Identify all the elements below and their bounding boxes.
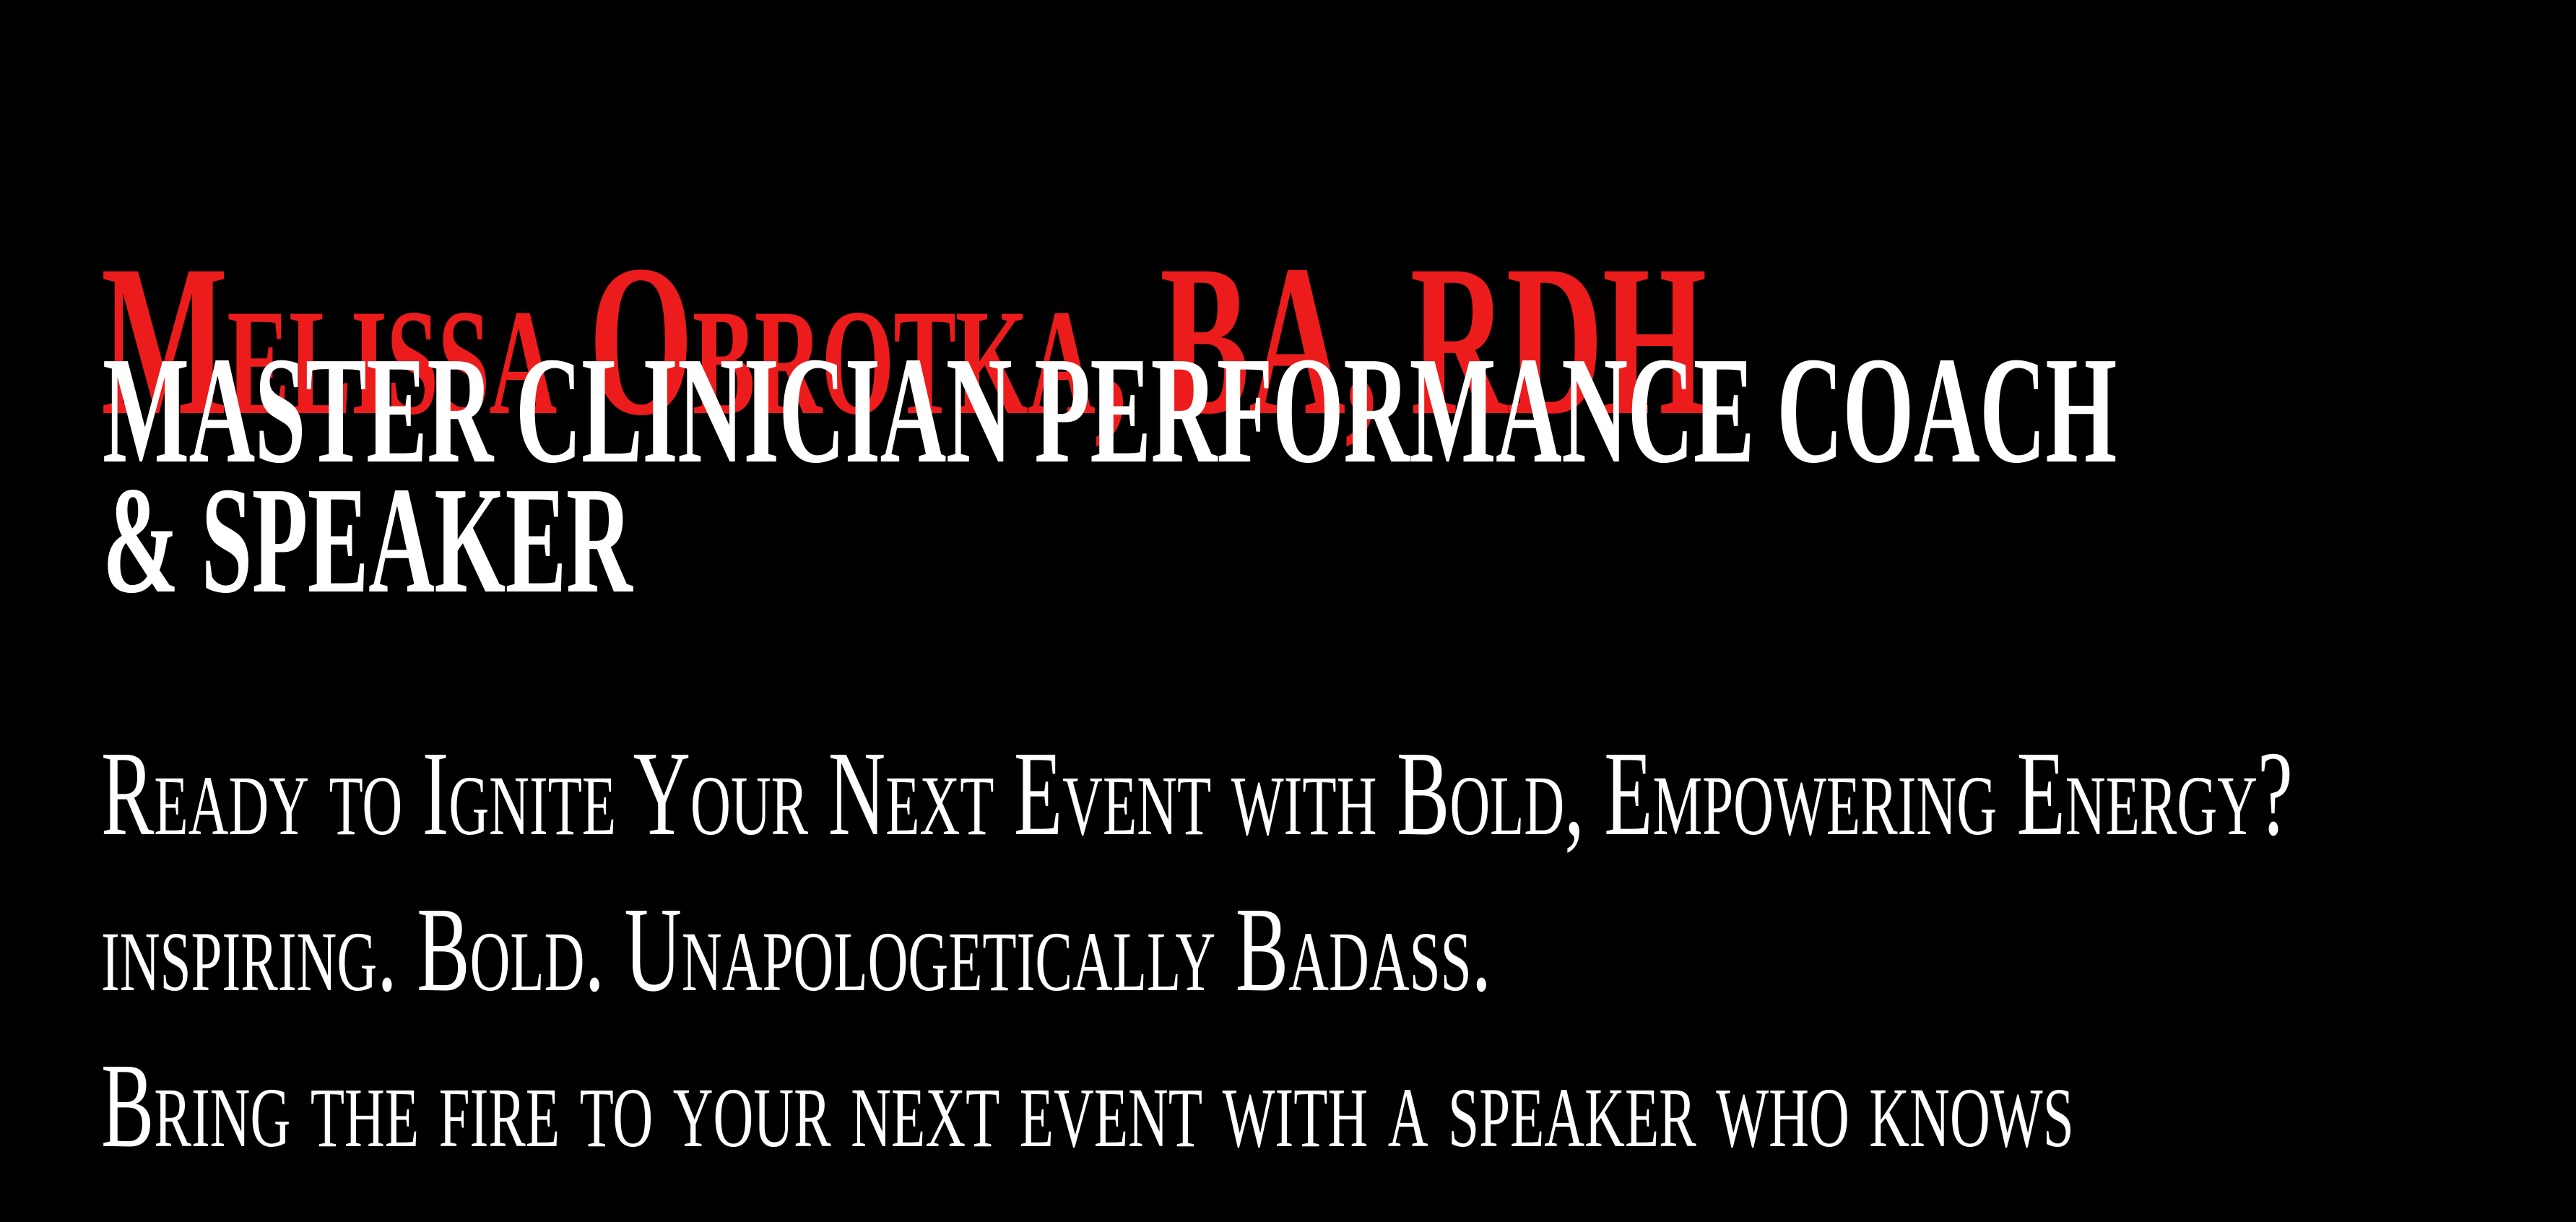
body-line-1: Ready to Ignite Your Next Event with Bol… — [101, 716, 2293, 872]
subtitle-block: MASTER CLINICIAN PERFORMANCE COACH & SPE… — [103, 345, 2117, 605]
body-copy-block: Ready to Ignite Your Next Event with Bol… — [101, 716, 2293, 1222]
body-line-3: Bring the fire to your next event with a… — [101, 1028, 2293, 1184]
subtitle-line-2: & SPEAKER — [103, 475, 2117, 605]
body-line-4: how to captivate, educate, and motivate. — [101, 1184, 2293, 1222]
body-line-2: inspiring. Bold. Unapologetically Badass… — [101, 872, 2293, 1028]
promo-banner: Melissa Obrotka, BA, RDH MASTER CLINICIA… — [0, 0, 2576, 1222]
